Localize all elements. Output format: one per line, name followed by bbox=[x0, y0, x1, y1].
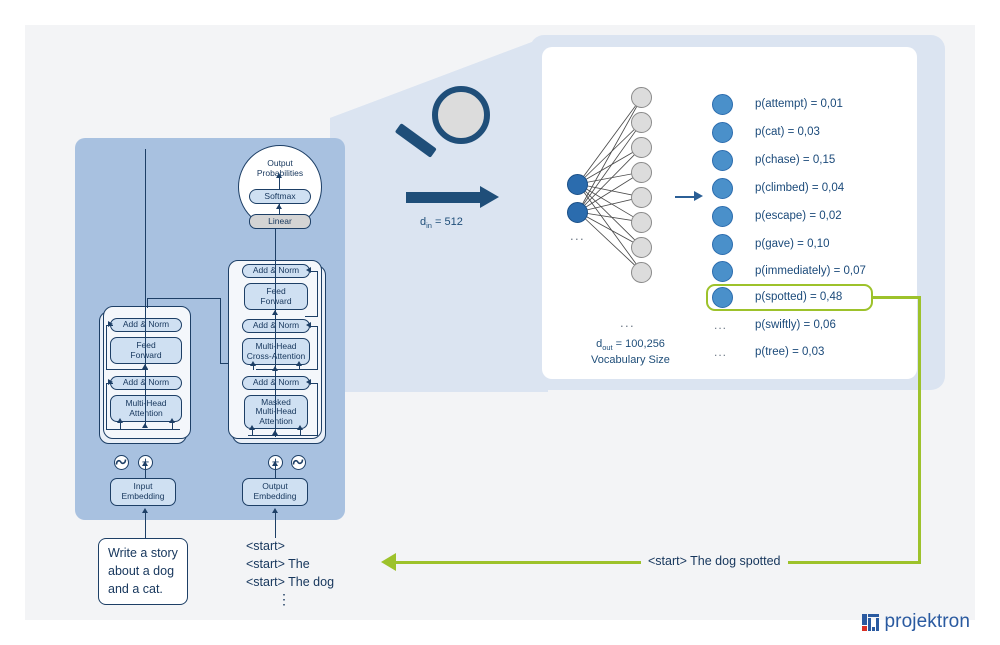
encoder-residual2-v bbox=[106, 325, 107, 370]
prompt-to-input-emb-arrow bbox=[142, 508, 148, 513]
encoder-attn-q bbox=[120, 422, 121, 430]
output-node-1 bbox=[631, 87, 652, 108]
feedback-line-vertical bbox=[918, 296, 921, 563]
projektron-logo-word: projektron bbox=[885, 611, 971, 633]
shifted-line1: <start> bbox=[246, 538, 334, 556]
output-node-3 bbox=[631, 137, 652, 158]
decoder-residual1-arrow bbox=[306, 267, 311, 273]
enc-dec-link-h-top bbox=[147, 298, 221, 299]
network-edges bbox=[560, 85, 690, 315]
decoder-mattn-q bbox=[252, 429, 253, 436]
prob-node-7 bbox=[712, 287, 733, 308]
decoder-residual1-h bbox=[305, 316, 318, 317]
positional-encoding-icon-decoder bbox=[291, 455, 306, 470]
input-embedding-box[interactable]: Input Embedding bbox=[110, 478, 176, 506]
prob-node-9-dots: p(tree) = 0,03 bbox=[755, 346, 824, 358]
softmax-arrow-shaft bbox=[675, 196, 696, 198]
linear-box[interactable]: Linear bbox=[249, 214, 311, 229]
projektron-logo-mark bbox=[862, 614, 879, 631]
prob-node-2 bbox=[712, 150, 733, 171]
output-node-8 bbox=[631, 262, 652, 283]
zoom-arrow-head bbox=[480, 186, 499, 208]
arrowhead-output-prob bbox=[276, 173, 282, 178]
decoder-xattn-k-arrow bbox=[296, 361, 302, 366]
prob-node-0 bbox=[712, 94, 733, 115]
prob-label-4: p(escape) = 0,02 bbox=[755, 210, 842, 222]
d-out-subscript: out bbox=[602, 343, 612, 352]
decoder-mattn-k bbox=[300, 429, 301, 436]
diagram-canvas: Output Probabilities Softmax Linear Add … bbox=[0, 0, 1000, 645]
decoder-residual3-v bbox=[317, 383, 318, 436]
input-nodes-ellipsis: ... bbox=[570, 228, 585, 243]
encoder-residual1-arrow bbox=[108, 379, 113, 385]
positional-encoding-icon-encoder bbox=[114, 455, 129, 470]
shifted-line2: <start> The bbox=[246, 556, 334, 574]
magnifying-glass-icon bbox=[432, 86, 490, 144]
decoder-residual2-h-top bbox=[311, 326, 318, 327]
output-embedding-line2: Embedding bbox=[253, 492, 296, 502]
arrowhead-softmax-in bbox=[276, 204, 282, 209]
encoder-residual2-h-top bbox=[106, 325, 113, 326]
enc-dec-link-v2 bbox=[220, 298, 221, 364]
prob-node-5 bbox=[712, 234, 733, 255]
prompt-line1: Write a story bbox=[108, 545, 178, 563]
prob-node-6 bbox=[712, 261, 733, 282]
decoder-residual2-h bbox=[256, 369, 318, 370]
decoder-residual2-v bbox=[317, 326, 318, 370]
decoder-residual1-h-top bbox=[311, 271, 318, 272]
prob-label-7: p(spotted) = 0,48 bbox=[755, 291, 842, 303]
prob-node-3 bbox=[712, 178, 733, 199]
decoder-xattn-q-arrow bbox=[250, 361, 256, 366]
input-node-2 bbox=[567, 202, 588, 223]
softmax-box[interactable]: Softmax bbox=[249, 189, 311, 204]
prob-node-8-dots: p(swiftly) = 0,06 bbox=[755, 319, 836, 331]
decoder-arrow-ff-out bbox=[272, 310, 278, 315]
shifted-to-output-emb bbox=[275, 512, 276, 538]
shifted-ellipsis: ⋮ bbox=[246, 592, 322, 607]
zoom-arrow-shaft bbox=[406, 192, 484, 203]
encoder-residual1-v bbox=[106, 383, 107, 430]
d-in-label: din = 512 bbox=[420, 216, 463, 230]
decoder-main-line bbox=[275, 229, 276, 437]
encoder-attn-q-arrow bbox=[117, 418, 123, 423]
projektron-logo: projektron bbox=[862, 611, 971, 633]
prob-node-1 bbox=[712, 122, 733, 143]
feedback-line-from-highlight bbox=[871, 296, 921, 299]
shifted-sequence-text: <start> <start> The <start> The dog ⋮ bbox=[246, 538, 334, 608]
output-node-6 bbox=[631, 212, 652, 233]
output-node-2 bbox=[631, 112, 652, 133]
encoder-residual1-h-bottom bbox=[106, 429, 180, 430]
prompt-to-input-emb bbox=[145, 512, 146, 538]
decoder-residual3-h bbox=[248, 435, 318, 436]
prob-label-1: p(cat) = 0,03 bbox=[755, 126, 820, 138]
vocabulary-size-label: Vocabulary Size bbox=[578, 353, 683, 368]
shifted-line3: <start> The dog bbox=[246, 574, 334, 592]
prompt-input-box[interactable]: Write a story about a dog and a cat. bbox=[98, 538, 188, 605]
feedback-label: <start> The dog spotted bbox=[641, 554, 788, 568]
prob-label-2: p(chase) = 0,15 bbox=[755, 154, 835, 166]
decoder-mattn-q-arrow bbox=[249, 425, 255, 430]
d-in-value: = 512 bbox=[432, 216, 463, 228]
prompt-line2: about a dog bbox=[108, 563, 178, 581]
decoder-mattn-k-arrow bbox=[297, 425, 303, 430]
feedback-arrow-head bbox=[381, 553, 396, 571]
encoder-main-line bbox=[145, 149, 146, 427]
shifted-to-output-emb-arrow bbox=[272, 508, 278, 513]
prob-label-0: p(attempt) = 0,01 bbox=[755, 98, 843, 110]
prob-label-3: p(climbed) = 0,04 bbox=[755, 182, 844, 194]
output-nodes-ellipsis: ... bbox=[620, 315, 635, 330]
output-prob-line1: Output bbox=[238, 158, 322, 168]
d-out-value: = 100,256 bbox=[613, 338, 665, 350]
input-emb-to-pe-arrow bbox=[142, 461, 148, 466]
output-node-4 bbox=[631, 162, 652, 183]
encoder-arrow-attn-out bbox=[142, 423, 148, 428]
output-node-7 bbox=[631, 237, 652, 258]
encoder-residual2-h-bottom bbox=[106, 369, 148, 370]
prob-label-6: p(immediately) = 0,07 bbox=[755, 265, 866, 277]
encoder-attn-k-arrow bbox=[169, 418, 175, 423]
decoder-residual1-v bbox=[317, 271, 318, 317]
prob-dots-8: ... bbox=[714, 318, 727, 332]
output-node-5 bbox=[631, 187, 652, 208]
softmax-arrow-head bbox=[694, 191, 703, 201]
prob-node-4 bbox=[712, 206, 733, 227]
output-embedding-box[interactable]: Output Embedding bbox=[242, 478, 308, 506]
decoder-residual3-h-top bbox=[311, 383, 318, 384]
encoder-attn-k bbox=[172, 422, 173, 430]
prob-label-5: p(gave) = 0,10 bbox=[755, 238, 829, 250]
prompt-line3: and a cat. bbox=[108, 581, 178, 599]
output-emb-to-pe-arrow bbox=[272, 461, 278, 466]
input-node-1 bbox=[567, 174, 588, 195]
input-embedding-line2: Embedding bbox=[121, 492, 164, 502]
prob-dots-9: ... bbox=[714, 345, 727, 359]
enc-dec-link-v bbox=[147, 298, 148, 308]
d-out-label: dout = 100,256 Vocabulary Size bbox=[578, 337, 683, 368]
